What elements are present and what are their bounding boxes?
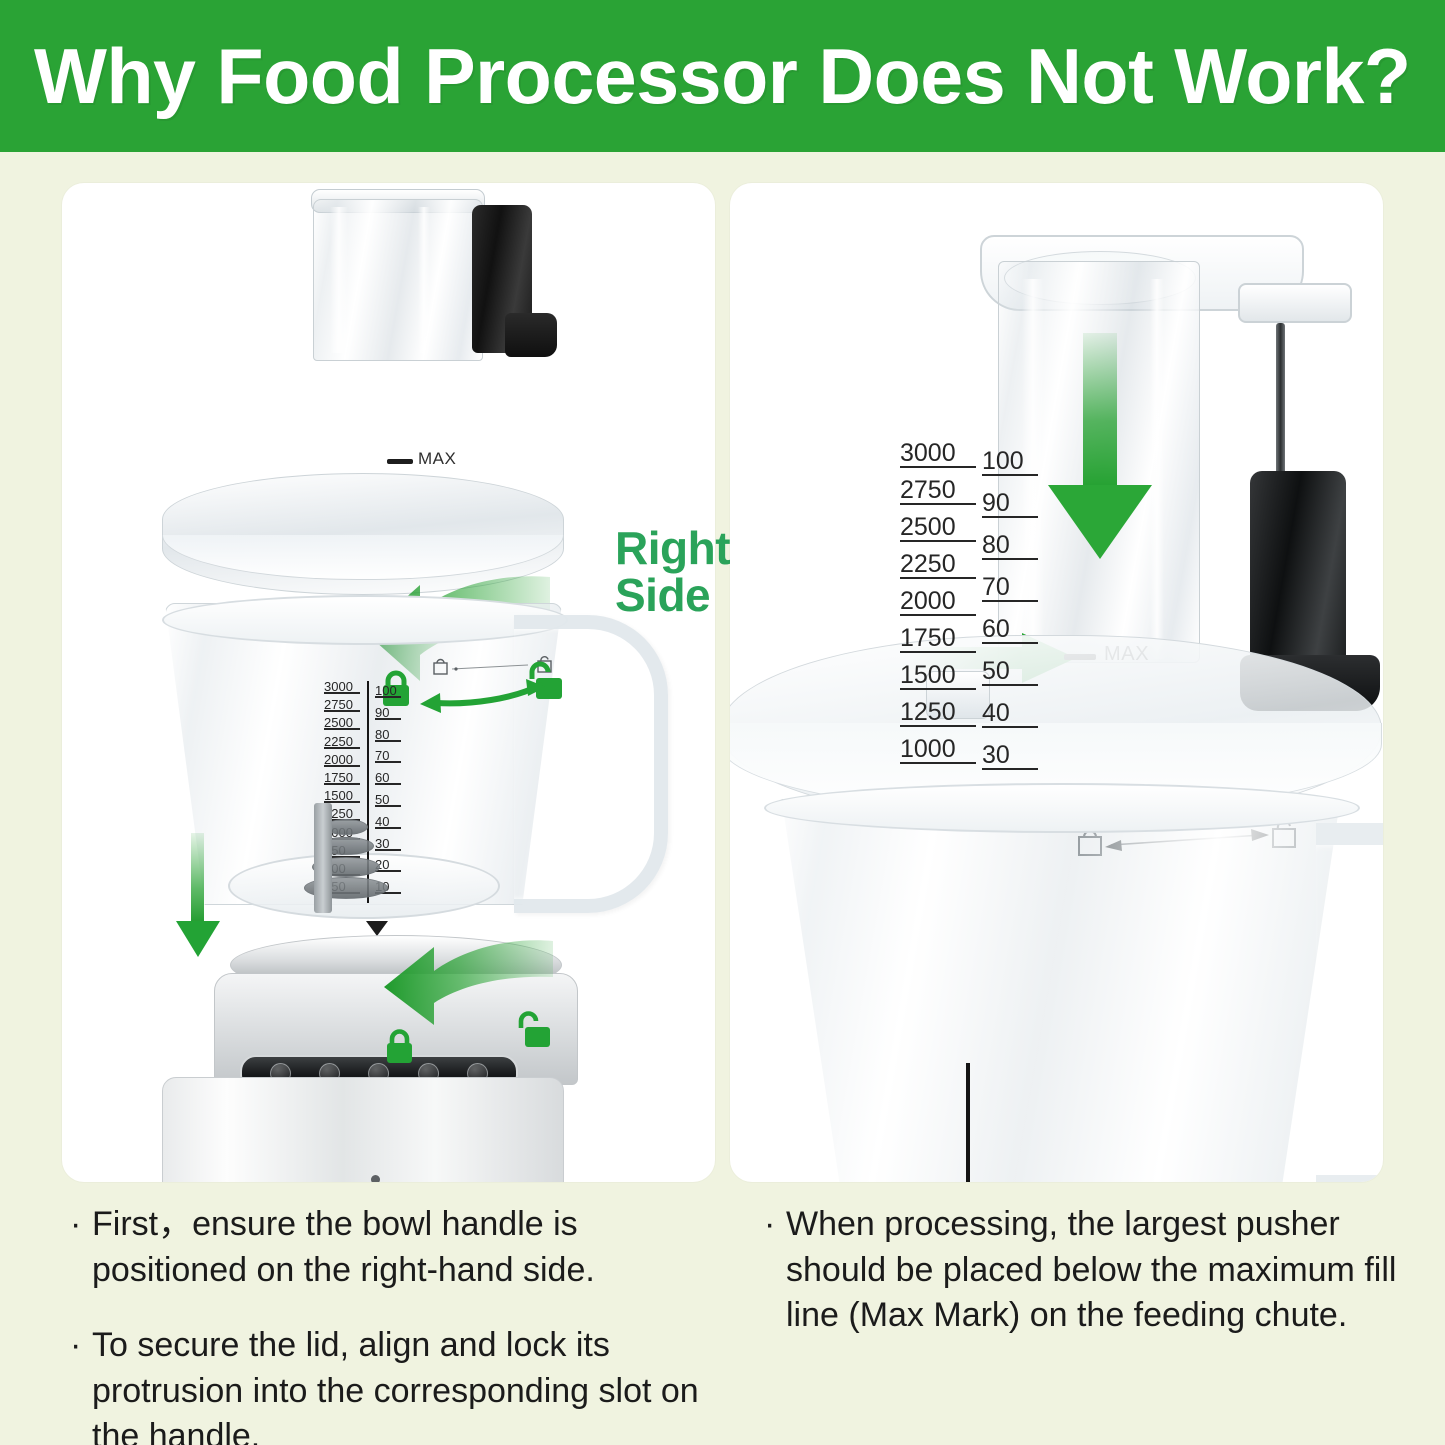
motor-base-body (162, 1077, 564, 1182)
scale-tick: 60 (982, 615, 1038, 644)
scale-value: 100 (982, 447, 1024, 476)
scale-value: 1500 (900, 661, 956, 690)
scale-value: 40 (982, 699, 1010, 728)
caption-text: To secure the lid, align and lock its pr… (92, 1323, 710, 1445)
scale-tick: 90 (982, 489, 1038, 518)
scale-value: 90 (375, 705, 389, 720)
scale-tick: 1500 (900, 661, 976, 690)
feed-chute (313, 199, 483, 361)
scale-value: 60 (375, 770, 389, 785)
scale-value: 80 (375, 727, 389, 742)
scale-tick: 40 (982, 699, 1038, 728)
bullet-dot-icon: · (70, 1202, 92, 1248)
scale-value: 1750 (900, 624, 956, 653)
scale-tick: 70 (982, 573, 1038, 602)
scale-value: 1000 (900, 735, 956, 764)
scale-value: 70 (375, 748, 389, 763)
scale-tick: 1500 (324, 788, 360, 803)
scale-tick: 60 (375, 770, 401, 785)
right-side-label: Right Side (615, 525, 730, 620)
scale-tick: 80 (982, 531, 1038, 560)
scale-tick: 90 (375, 705, 401, 720)
left-illustration: MAX (62, 183, 715, 1182)
scale-value: 60 (982, 615, 1010, 644)
bowl-handle (1316, 823, 1383, 1182)
left-illustration-card: MAX (62, 183, 715, 1182)
scale-tick: 3000 (900, 439, 976, 468)
scale-tick: 2000 (324, 752, 360, 767)
scale-value: 2750 (900, 476, 956, 505)
pusher-foot-black (505, 313, 557, 357)
work-bowl-rim (162, 595, 568, 645)
scale-value: 40 (375, 814, 389, 829)
pusher-cap (1238, 283, 1352, 323)
infographic-page: Why Food Processor Does Not Work? MAX (0, 0, 1445, 1445)
scale-tick: 30 (375, 836, 401, 851)
scale-tick: 1250 (900, 698, 976, 727)
insert-pusher-arrow (1040, 333, 1160, 563)
work-bowl (770, 799, 1352, 1182)
scale-tick: 50 (982, 657, 1038, 686)
scale-tick: 2750 (324, 697, 360, 712)
work-bowl-rim (764, 783, 1360, 833)
header-banner: Why Food Processor Does Not Work? (0, 0, 1445, 152)
scale-value: 2750 (324, 697, 353, 712)
max-mark-label: MAX (418, 449, 456, 469)
lower-bowl-arrow (170, 833, 226, 959)
base-lock-closed-icon (384, 1029, 416, 1065)
scale-tick: 2250 (900, 550, 976, 579)
scale-tick: 2500 (324, 715, 360, 730)
scale-value: 30 (982, 741, 1010, 770)
blade-stem (314, 803, 332, 913)
scale-tick: 3000 (324, 679, 360, 694)
alignment-triangle-mark (366, 921, 388, 936)
right-illustration-card: MAX 300 (730, 183, 1383, 1182)
scale-tick: 2750 (900, 476, 976, 505)
right-illustration: MAX 300 (730, 183, 1383, 1182)
scale-tick: 1750 (900, 624, 976, 653)
scale-tick: 1000 (900, 735, 976, 764)
caption-bullet-item: ·When processing, the largest pusher sho… (764, 1202, 1424, 1339)
scale-value: 2500 (324, 715, 353, 730)
bullet-dot-icon: · (70, 1323, 92, 1369)
right-side-label-line2: Side (615, 572, 730, 619)
left-caption-list: ·First，ensure the bowl handle is positio… (70, 1202, 710, 1445)
scale-value: 2000 (324, 752, 353, 767)
caption-text: First，ensure the bowl handle is position… (92, 1202, 710, 1293)
scale-tick: 100 (982, 447, 1038, 476)
scale-value: 1250 (900, 698, 956, 727)
right-side-label-line1: Right (615, 525, 730, 572)
scale-value: 70 (982, 573, 1010, 602)
scale-tick: 80 (375, 727, 401, 742)
scale-tick: 2000 (900, 587, 976, 616)
base-lock-open-icon (514, 1011, 552, 1049)
lock-direction-arrow (414, 677, 554, 717)
scale-tick: 30 (982, 741, 1038, 770)
pusher-rod (1276, 323, 1285, 483)
caption-bullet-item: ·First，ensure the bowl handle is positio… (70, 1202, 710, 1293)
scale-value: 80 (982, 531, 1010, 560)
scale-value: 3000 (324, 679, 353, 694)
scale-value: 2250 (324, 734, 353, 749)
scale-tick: 50 (375, 792, 401, 807)
scale-value: 50 (375, 792, 389, 807)
scale-value: 1750 (324, 770, 353, 785)
scale-tick: 40 (375, 814, 401, 829)
scale-tick: 2250 (324, 734, 360, 749)
scale-value: 3000 (900, 439, 956, 468)
page-title: Why Food Processor Does Not Work? (34, 37, 1411, 115)
scale-tick: 70 (375, 748, 401, 763)
scale-value: 30 (375, 836, 389, 851)
right-caption-list: ·When processing, the largest pusher sho… (764, 1202, 1424, 1369)
scale-tick: 2500 (900, 513, 976, 542)
scale-value: 100 (375, 683, 397, 698)
bullet-dot-icon: · (764, 1202, 786, 1248)
scale-value: 50 (982, 657, 1010, 686)
scale-tick: 100 (375, 683, 401, 698)
scale-value: 2250 (900, 550, 956, 579)
scale-value: 2500 (900, 513, 956, 542)
scale-value: 90 (982, 489, 1010, 518)
knob-indicator-dot (371, 1175, 380, 1182)
scale-divider-line (966, 1063, 970, 1182)
caption-bullet-item: ·To secure the lid, align and lock its p… (70, 1323, 710, 1445)
scale-tick: 1750 (324, 770, 360, 785)
caption-text: When processing, the largest pusher shou… (786, 1202, 1424, 1339)
scale-value: 2000 (900, 587, 956, 616)
scale-value: 1500 (324, 788, 353, 803)
max-mark-dash (387, 459, 413, 464)
